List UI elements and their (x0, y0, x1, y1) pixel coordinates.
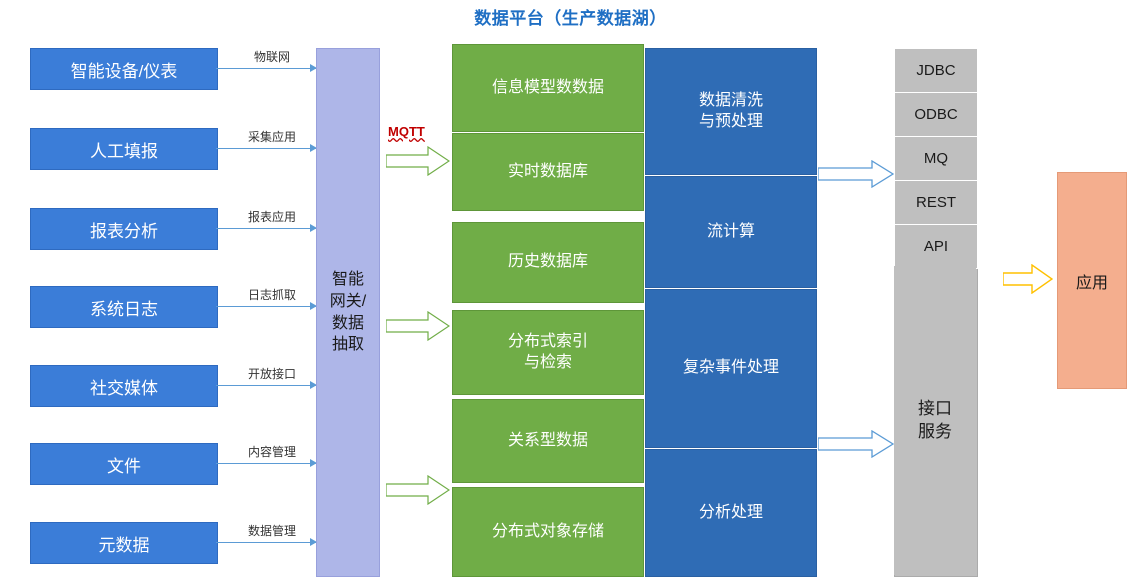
connector-line-3 (216, 228, 316, 229)
source-box-6[interactable]: 文件 (30, 443, 218, 485)
interface-item-mq[interactable]: MQ (894, 136, 978, 181)
blue-arrow-icon-2 (818, 430, 894, 458)
lake-box-4-label: 分布式索引与检索 (508, 332, 588, 374)
connector-line-4 (216, 306, 316, 307)
gateway-box[interactable]: 智能网关/数据抽取 (316, 48, 380, 577)
green-arrow-icon-2 (386, 311, 450, 341)
lake-box-5[interactable]: 关系型数据 (452, 399, 644, 483)
connector-line-6 (216, 463, 316, 464)
blue-arrow-icon-1 (818, 160, 894, 188)
edge-label-3: 报表应用 (232, 208, 312, 225)
lake-box-6[interactable]: 分布式对象存储 (452, 487, 644, 577)
interface-item-api[interactable]: API (894, 224, 978, 269)
processing-box-1-label: 数据清洗与预处理 (699, 91, 763, 133)
connector-line-2 (216, 148, 316, 149)
interface-item-jdbc[interactable]: JDBC (894, 48, 978, 93)
connector-line-7 (216, 542, 316, 543)
connector-line-1 (216, 68, 316, 69)
interface-item-odbc[interactable]: ODBC (894, 92, 978, 137)
processing-box-1[interactable]: 数据清洗与预处理 (645, 48, 817, 175)
source-box-5[interactable]: 社交媒体 (30, 365, 218, 407)
lake-box-1[interactable]: 信息模型数数据 (452, 44, 644, 132)
source-box-1[interactable]: 智能设备/仪表 (30, 48, 218, 90)
interface-service-label: 接口服务 (894, 266, 976, 575)
yellow-arrow-icon (1003, 264, 1053, 299)
processing-box-4[interactable]: 分析处理 (645, 449, 817, 577)
lake-box-4[interactable]: 分布式索引与检索 (452, 310, 644, 395)
application-box[interactable]: 应用 (1057, 172, 1127, 389)
source-box-7[interactable]: 元数据 (30, 522, 218, 564)
page-title: 数据平台（生产数据湖） (0, 4, 1141, 29)
edge-label-7: 数据管理 (232, 522, 312, 539)
source-box-2[interactable]: 人工填报 (30, 128, 218, 170)
lake-box-3[interactable]: 历史数据库 (452, 222, 644, 303)
green-arrow-icon-1 (386, 146, 450, 176)
mqtt-protocol-label: MQTT (388, 124, 425, 139)
green-arrow-icon-3 (386, 475, 450, 505)
edge-label-6: 内容管理 (232, 443, 312, 460)
edge-label-1: 物联网 (232, 48, 312, 65)
interface-item-rest[interactable]: REST (894, 180, 978, 225)
processing-box-2[interactable]: 流计算 (645, 176, 817, 288)
processing-box-3[interactable]: 复杂事件处理 (645, 289, 817, 448)
edge-label-5: 开放接口 (232, 365, 312, 382)
lake-box-2[interactable]: 实时数据库 (452, 133, 644, 211)
source-box-3[interactable]: 报表分析 (30, 208, 218, 250)
diagram-canvas: 数据平台（生产数据湖） 智能设备/仪表 人工填报 报表分析 系统日志 社交媒体 … (0, 0, 1141, 579)
connector-line-5 (216, 385, 316, 386)
source-box-4[interactable]: 系统日志 (30, 286, 218, 328)
edge-label-4: 日志抓取 (232, 286, 312, 303)
edge-label-2: 采集应用 (232, 128, 312, 145)
